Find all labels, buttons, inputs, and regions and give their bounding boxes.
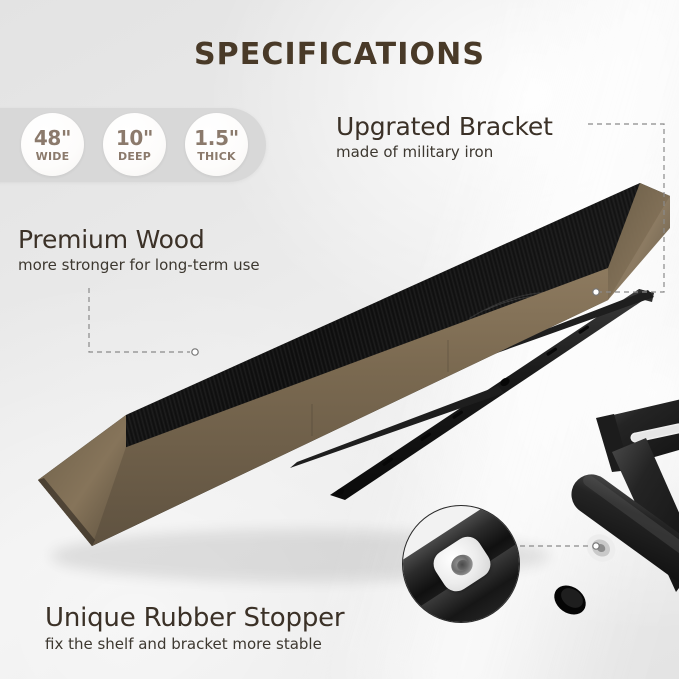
- rubber-stopper-zoom-inset: [402, 505, 520, 623]
- callout-bracket-subtitle: made of military iron: [336, 143, 553, 161]
- callout-stopper-subtitle: fix the shelf and bracket more stable: [45, 635, 344, 653]
- page-title: SPECIFICATIONS: [0, 37, 679, 72]
- callout-bracket: Upgrated Bracket made of military iron: [336, 112, 553, 161]
- spec-badge-width-value: 48": [34, 128, 71, 148]
- spec-badge-thickness-label: THICK: [197, 151, 235, 162]
- bracket-detached-arm: [549, 398, 679, 621]
- infographic-canvas: SPECIFICATIONS 48" WIDE 10" DEEP 1.5" TH…: [0, 0, 679, 679]
- spec-badge-depth-value: 10": [116, 128, 153, 148]
- callout-stopper-title: Unique Rubber Stopper: [45, 603, 344, 633]
- spec-badge-thickness-value: 1.5": [194, 128, 239, 148]
- product-illustration: [0, 0, 679, 679]
- spec-badge-depth-label: DEEP: [118, 151, 151, 162]
- callout-wood-title: Premium Wood: [18, 225, 260, 254]
- spec-badge-width[interactable]: 48" WIDE: [21, 113, 84, 176]
- spec-badge-width-label: WIDE: [36, 151, 70, 162]
- callout-wood-subtitle: more stronger for long-term use: [18, 256, 260, 274]
- spec-badge-depth[interactable]: 10" DEEP: [103, 113, 166, 176]
- callout-stopper: Unique Rubber Stopper fix the shelf and …: [45, 603, 344, 653]
- callout-wood: Premium Wood more stronger for long-term…: [18, 225, 260, 274]
- spec-badge-thickness[interactable]: 1.5" THICK: [185, 113, 248, 176]
- callout-bracket-title: Upgrated Bracket: [336, 112, 553, 141]
